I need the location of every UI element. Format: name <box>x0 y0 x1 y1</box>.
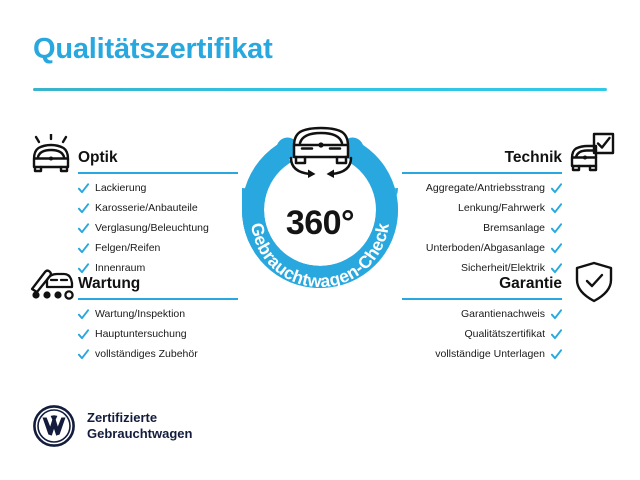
list-item-label: vollständiges Zubehör <box>95 349 198 360</box>
list-item-label: Qualitätszertifikat <box>464 329 545 340</box>
car-wrench-icon <box>26 260 76 309</box>
list-item: Felgen/Reifen <box>78 243 238 254</box>
section-divider-garantie <box>402 298 562 300</box>
list-item: Lackierung <box>78 183 238 194</box>
list-item-label: Garantienachweis <box>461 309 545 320</box>
car-checkbox-icon <box>566 132 616 181</box>
check-icon <box>551 349 562 360</box>
check-icon <box>551 203 562 214</box>
check-icon <box>551 309 562 320</box>
list-item: Qualitätszertifikat <box>402 329 562 340</box>
check-icon <box>551 243 562 254</box>
list-item: Lenkung/Fahrwerk <box>402 203 562 214</box>
check-icon <box>551 223 562 234</box>
list-item: Karosserie/Anbauteile <box>78 203 238 214</box>
section-title-wartung: Wartung <box>78 275 140 293</box>
list-item: Verglasung/Beleuchtung <box>78 223 238 234</box>
certificate-page: Qualitätszertifikat Optik Lackierung Kar… <box>0 0 640 480</box>
badge-360-gebrauchtwagen-check: Gebrauchtwagen-Check <box>228 118 412 320</box>
vw-wordmark-line1: Zertifizierte <box>87 410 192 426</box>
vw-logo <box>33 405 75 447</box>
check-icon <box>78 329 89 340</box>
list-item-label: vollständige Unterlagen <box>435 349 545 360</box>
section-title-technik: Technik <box>505 149 562 167</box>
list-item: Garantienachweis <box>402 309 562 320</box>
list-item: vollständige Unterlagen <box>402 349 562 360</box>
page-title: Qualitätszertifikat <box>33 33 273 66</box>
car-shine-icon <box>26 134 76 183</box>
section-technik: Technik Aggregate/Antriebsstrang Lenkung… <box>402 140 562 274</box>
section-title-optik: Optik <box>78 149 118 167</box>
check-icon <box>78 183 89 194</box>
checklist-technik: Aggregate/Antriebsstrang Lenkung/Fahrwer… <box>402 183 562 274</box>
section-divider-wartung <box>78 298 238 300</box>
section-wartung: Wartung Wartung/Inspektion Hauptuntersuc… <box>78 266 238 360</box>
list-item: Hauptuntersuchung <box>78 329 238 340</box>
badge-value: 360° <box>228 204 412 243</box>
section-header-wartung: Wartung <box>78 266 238 300</box>
checklist-wartung: Wartung/Inspektion Hauptuntersuchung vol… <box>78 309 238 360</box>
checklist-optik: Lackierung Karosserie/Anbauteile Verglas… <box>78 183 238 274</box>
list-item-label: Lackierung <box>95 183 146 194</box>
list-item: Unterboden/Abgasanlage <box>402 243 562 254</box>
vw-wordmark-line2: Gebrauchtwagen <box>87 426 192 442</box>
list-item: Aggregate/Antriebsstrang <box>402 183 562 194</box>
list-item: Wartung/Inspektion <box>78 309 238 320</box>
list-item-label: Lenkung/Fahrwerk <box>458 203 545 214</box>
list-item-label: Verglasung/Beleuchtung <box>95 223 209 234</box>
list-item-label: Wartung/Inspektion <box>95 309 185 320</box>
check-icon <box>551 183 562 194</box>
section-divider-technik <box>402 172 562 174</box>
list-item: vollständiges Zubehör <box>78 349 238 360</box>
list-item-label: Karosserie/Anbauteile <box>95 203 198 214</box>
list-item-label: Bremsanlage <box>483 223 545 234</box>
checklist-garantie: Garantienachweis Qualitätszertifikat vol… <box>402 309 562 360</box>
section-garantie: Garantie Garantienachweis Qualitätszerti… <box>402 266 562 360</box>
section-title-garantie: Garantie <box>499 275 562 293</box>
footer-logo-block: Zertifizierte Gebrauchtwagen <box>33 405 192 447</box>
check-icon <box>78 309 89 320</box>
check-icon <box>551 329 562 340</box>
section-header-technik: Technik <box>402 140 562 174</box>
check-icon <box>78 203 89 214</box>
list-item-label: Hauptuntersuchung <box>95 329 187 340</box>
list-item-label: Felgen/Reifen <box>95 243 160 254</box>
check-icon <box>78 243 89 254</box>
check-icon <box>78 349 89 360</box>
vw-wordmark: Zertifizierte Gebrauchtwagen <box>87 410 192 443</box>
header-divider <box>33 88 607 91</box>
list-item-label: Unterboden/Abgasanlage <box>426 243 545 254</box>
list-item: Bremsanlage <box>402 223 562 234</box>
section-optik: Optik Lackierung Karosserie/Anbauteile <box>78 140 238 274</box>
check-icon <box>78 223 89 234</box>
car-rotate-icon <box>284 116 358 185</box>
list-item-label: Aggregate/Antriebsstrang <box>426 183 545 194</box>
section-header-optik: Optik <box>78 140 238 174</box>
section-divider-optik <box>78 172 238 174</box>
section-header-garantie: Garantie <box>402 266 562 300</box>
shield-check-icon <box>572 260 616 309</box>
